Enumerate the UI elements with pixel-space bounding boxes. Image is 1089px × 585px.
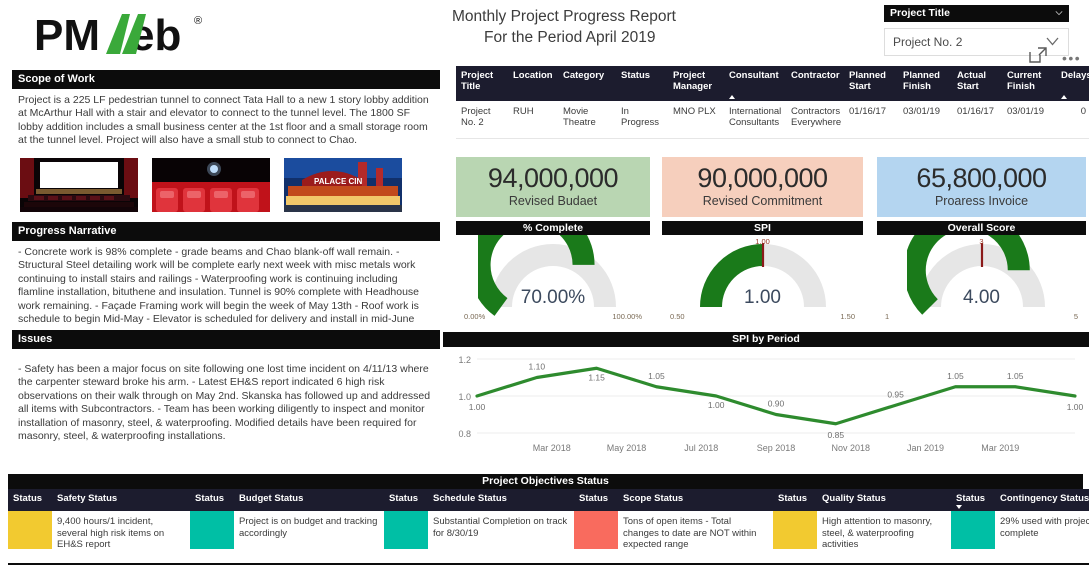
cell-status: In Progress: [616, 101, 668, 139]
svg-text:0.95: 0.95: [887, 389, 904, 399]
gauge-card-spi: SPI 1.00 0.50 1.50 1.00: [662, 221, 863, 327]
gauge-min-label: 1: [885, 312, 889, 321]
kpi-value: 65,800,000: [877, 157, 1086, 193]
col-consultant[interactable]: Consultant: [724, 66, 786, 101]
gauge-percent-complete: 70.00% 0.00% 100.00%: [456, 235, 650, 327]
gauge-value: 70.00%: [456, 287, 650, 309]
objectives-row: 9,400 hours/1 incident, several high ris…: [8, 511, 1089, 564]
sort-descending-icon: [956, 505, 962, 509]
kpi-card-revised-commitment: 90,000,000 Revised Commitment: [662, 157, 863, 217]
col-status[interactable]: Status: [616, 66, 668, 101]
col-project-title[interactable]: Project Title: [456, 66, 508, 101]
gauge-target-label: 3: [877, 237, 1086, 246]
issues-title-text: Issues: [18, 333, 52, 345]
col-planned-start[interactable]: Planned Start: [844, 66, 898, 101]
palace-cinema-exterior-photo: PALACE CIN: [284, 158, 402, 212]
issues-title: Issues: [12, 330, 440, 349]
col-schedule-status[interactable]: Schedule Status: [428, 489, 574, 511]
status-badge-budget: [190, 511, 234, 564]
col-status-schedule[interactable]: Status: [384, 489, 428, 511]
scope-of-work-title: Scope of Work: [12, 70, 440, 89]
cell-planned-start: 01/16/17: [844, 101, 898, 139]
cell-category: Movie Theatre: [558, 101, 616, 139]
issues-panel: Issues - Safety has been a major focus o…: [12, 330, 440, 447]
contingency-status-text: 29% used with project at 55% complete: [995, 511, 1089, 564]
project-select-value: Project No. 2: [893, 35, 962, 49]
status-swatch: [574, 511, 618, 549]
svg-text:1.00: 1.00: [469, 402, 486, 412]
cell-planned-finish: 03/01/19: [898, 101, 952, 139]
col-status-contingency[interactable]: Status: [951, 489, 995, 511]
progress-narrative-text: - Concrete work is 98% complete - grade …: [12, 241, 440, 330]
gauge-spi: 1.00 0.50 1.50 1.00: [662, 235, 863, 327]
theatre-screen-photo: [20, 158, 138, 212]
chart-plot-area: 0.81.01.21.001.101.151.051.000.900.850.9…: [443, 347, 1089, 459]
kpi-card-revised-budget: 94,000,000 Revised Budaet: [456, 157, 650, 217]
cell-actual-start: 01/16/17: [952, 101, 1002, 139]
sort-caret-icon: [19, 89, 27, 93]
scope-title-text: Scope of Work: [18, 73, 95, 85]
svg-text:1.2: 1.2: [458, 355, 471, 365]
report-title: Monthly Project Progress Report For the …: [452, 6, 872, 48]
gauge-max-label: 100.00%: [612, 312, 642, 321]
status-swatch: [951, 511, 995, 549]
svg-text:1.15: 1.15: [588, 372, 605, 382]
svg-text:Jul 2018: Jul 2018: [684, 443, 718, 453]
col-status-quality[interactable]: Status: [773, 489, 817, 511]
report-page: PM eb ® Monthly Project Progress Report …: [0, 0, 1089, 585]
svg-text:May 2018: May 2018: [607, 443, 647, 453]
status-badge-contingency: [951, 511, 995, 564]
svg-text:1.10: 1.10: [529, 362, 546, 372]
cell-location: RUH: [508, 101, 558, 139]
table-header-row: Project Title Location Category Status P…: [456, 66, 1089, 101]
gauge-card-overall-score: Overall Score 4.00 1 5 3: [877, 221, 1086, 327]
cell-delays: 0: [1056, 101, 1089, 139]
chart-title: SPI by Period: [443, 332, 1089, 347]
scope-of-work-text: Project is a 225 LF pedestrian tunnel to…: [12, 89, 440, 152]
objectives-title: Project Objectives Status: [8, 474, 1083, 489]
col-current-finish[interactable]: Current Finish: [1002, 66, 1056, 101]
col-status-scope[interactable]: Status: [574, 489, 618, 511]
status-badge-schedule: [384, 511, 428, 564]
svg-text:0.90: 0.90: [768, 399, 785, 409]
col-location[interactable]: Location: [508, 66, 558, 101]
svg-text:1.0: 1.0: [458, 392, 471, 402]
status-swatch: [8, 511, 52, 549]
svg-text:1.00: 1.00: [708, 400, 725, 410]
svg-text:Sep 2018: Sep 2018: [757, 443, 796, 453]
col-budget-status[interactable]: Budget Status: [234, 489, 384, 511]
status-swatch: [190, 511, 234, 549]
gauge-title: % Complete: [456, 221, 650, 235]
cell-current-finish: 03/01/19: [1002, 101, 1056, 139]
status-badge-quality: [773, 511, 817, 564]
cell-contractor: Contractors Everywhere: [786, 101, 844, 139]
kpi-value: 90,000,000: [662, 157, 863, 193]
kpi-label: Proaress Invoice: [877, 194, 1086, 208]
table-row[interactable]: Project No. 2 RUH Movie Theatre In Progr…: [456, 101, 1089, 139]
sort-caret-icon: [19, 349, 27, 353]
safety-status-text: 9,400 hours/1 incident, several high ris…: [52, 511, 190, 564]
gauge-max-label: 5: [1074, 312, 1078, 321]
status-badge-scope: [574, 511, 618, 564]
pmweb-logo: PM eb ®: [34, 10, 254, 62]
col-actual-start[interactable]: Actual Start: [952, 66, 1002, 101]
gauge-overall-score: 4.00 1 5 3: [877, 235, 1086, 327]
status-badge-safety: [8, 511, 52, 564]
gauge-target-label: 1.00: [662, 237, 863, 246]
more-options-icon[interactable]: •••: [1062, 50, 1081, 66]
svg-text:®: ®: [194, 15, 202, 27]
project-objectives-status: Project Objectives Status Status Safety …: [8, 474, 1083, 565]
col-status-safety[interactable]: Status: [8, 489, 52, 511]
gauge-max-label: 1.50: [840, 312, 855, 321]
gauge-title: SPI: [662, 221, 863, 235]
kpi-card-progress-invoice: 65,800,000 Proaress Invoice: [877, 157, 1086, 217]
scope-of-work-panel: Scope of Work Project is a 225 LF pedest…: [12, 70, 440, 212]
col-contractor[interactable]: Contractor: [786, 66, 844, 101]
col-safety-status[interactable]: Safety Status: [52, 489, 190, 511]
scope-status-text: Tons of open items - Total changes to da…: [618, 511, 773, 564]
slicer-label: Project Title: [890, 7, 950, 19]
col-contingency-status[interactable]: Contingency Status: [995, 489, 1089, 511]
col-delays[interactable]: Delays: [1056, 66, 1089, 101]
progress-title-text: Progress Narrative: [18, 225, 116, 237]
quality-status-text: High attention to masonry, steel, & wate…: [817, 511, 951, 564]
cell-consultant: International Consultants: [724, 101, 786, 139]
scope-image-strip: PALACE CIN: [12, 152, 440, 212]
svg-text:0.85: 0.85: [828, 430, 845, 440]
status-swatch: [384, 511, 428, 549]
report-title-line1: Monthly Project Progress Report: [452, 6, 872, 27]
svg-text:PM: PM: [34, 11, 100, 60]
svg-text:Mar 2019: Mar 2019: [981, 443, 1019, 453]
svg-text:1.05: 1.05: [648, 371, 665, 381]
svg-text:0.8: 0.8: [458, 429, 471, 439]
svg-text:PALACE CIN: PALACE CIN: [314, 177, 363, 186]
svg-text:1.00: 1.00: [1067, 402, 1084, 412]
svg-text:Jan 2019: Jan 2019: [907, 443, 944, 453]
objectives-header-row: Status Safety Status Status Budget Statu…: [8, 489, 1089, 511]
slicer-header: Project Title: [884, 5, 1069, 22]
gauge-value: 1.00: [662, 287, 863, 309]
sort-ascending-icon: [729, 95, 735, 99]
schedule-status-text: Substantial Completion on track for 8/30…: [428, 511, 574, 564]
chevron-down-icon: [1055, 9, 1063, 17]
progress-narrative-panel: Progress Narrative - Concrete work is 98…: [12, 222, 440, 330]
cell-project-manager: MNO PLX: [668, 101, 724, 139]
project-summary-table: Project Title Location Category Status P…: [456, 66, 1086, 139]
svg-text:1.05: 1.05: [1007, 371, 1024, 381]
svg-text:1.05: 1.05: [947, 371, 964, 381]
status-swatch: [773, 511, 817, 549]
gauge-min-label: 0.50: [670, 312, 685, 321]
kpi-label: Revised Commitment: [662, 194, 863, 208]
kpi-label: Revised Budaet: [456, 194, 650, 208]
gauge-title: Overall Score: [877, 221, 1086, 235]
col-status-budget[interactable]: Status: [190, 489, 234, 511]
issues-text: - Safety has been a major focus on site …: [12, 349, 440, 447]
spi-by-period-chart: SPI by Period 0.81.01.21.001.101.151.051…: [443, 332, 1089, 459]
svg-text:Nov 2018: Nov 2018: [831, 443, 870, 453]
col-planned-finish[interactable]: Planned Finish: [898, 66, 952, 101]
theatre-seats-photo: [152, 158, 270, 212]
gauge-value: 4.00: [877, 287, 1086, 309]
budget-status-text: Project is on budget and tracking accord…: [234, 511, 384, 564]
cell-project-title: Project No. 2: [456, 101, 508, 139]
progress-narrative-title: Progress Narrative: [12, 222, 440, 241]
col-project-manager[interactable]: Project Manager: [668, 66, 724, 101]
col-category[interactable]: Category: [558, 66, 616, 101]
report-title-line2: For the Period April 2019: [452, 27, 872, 48]
gauge-card-percent-complete: % Complete 70.00% 0.00% 100.00%: [456, 221, 650, 327]
focus-mode-icon[interactable]: [1028, 46, 1048, 64]
gauge-min-label: 0.00%: [464, 312, 485, 321]
kpi-value: 94,000,000: [456, 157, 650, 193]
col-scope-status[interactable]: Scope Status: [618, 489, 773, 511]
col-quality-status[interactable]: Quality Status: [817, 489, 951, 511]
sort-ascending-icon: [1061, 95, 1067, 99]
svg-text:Mar 2018: Mar 2018: [533, 443, 571, 453]
